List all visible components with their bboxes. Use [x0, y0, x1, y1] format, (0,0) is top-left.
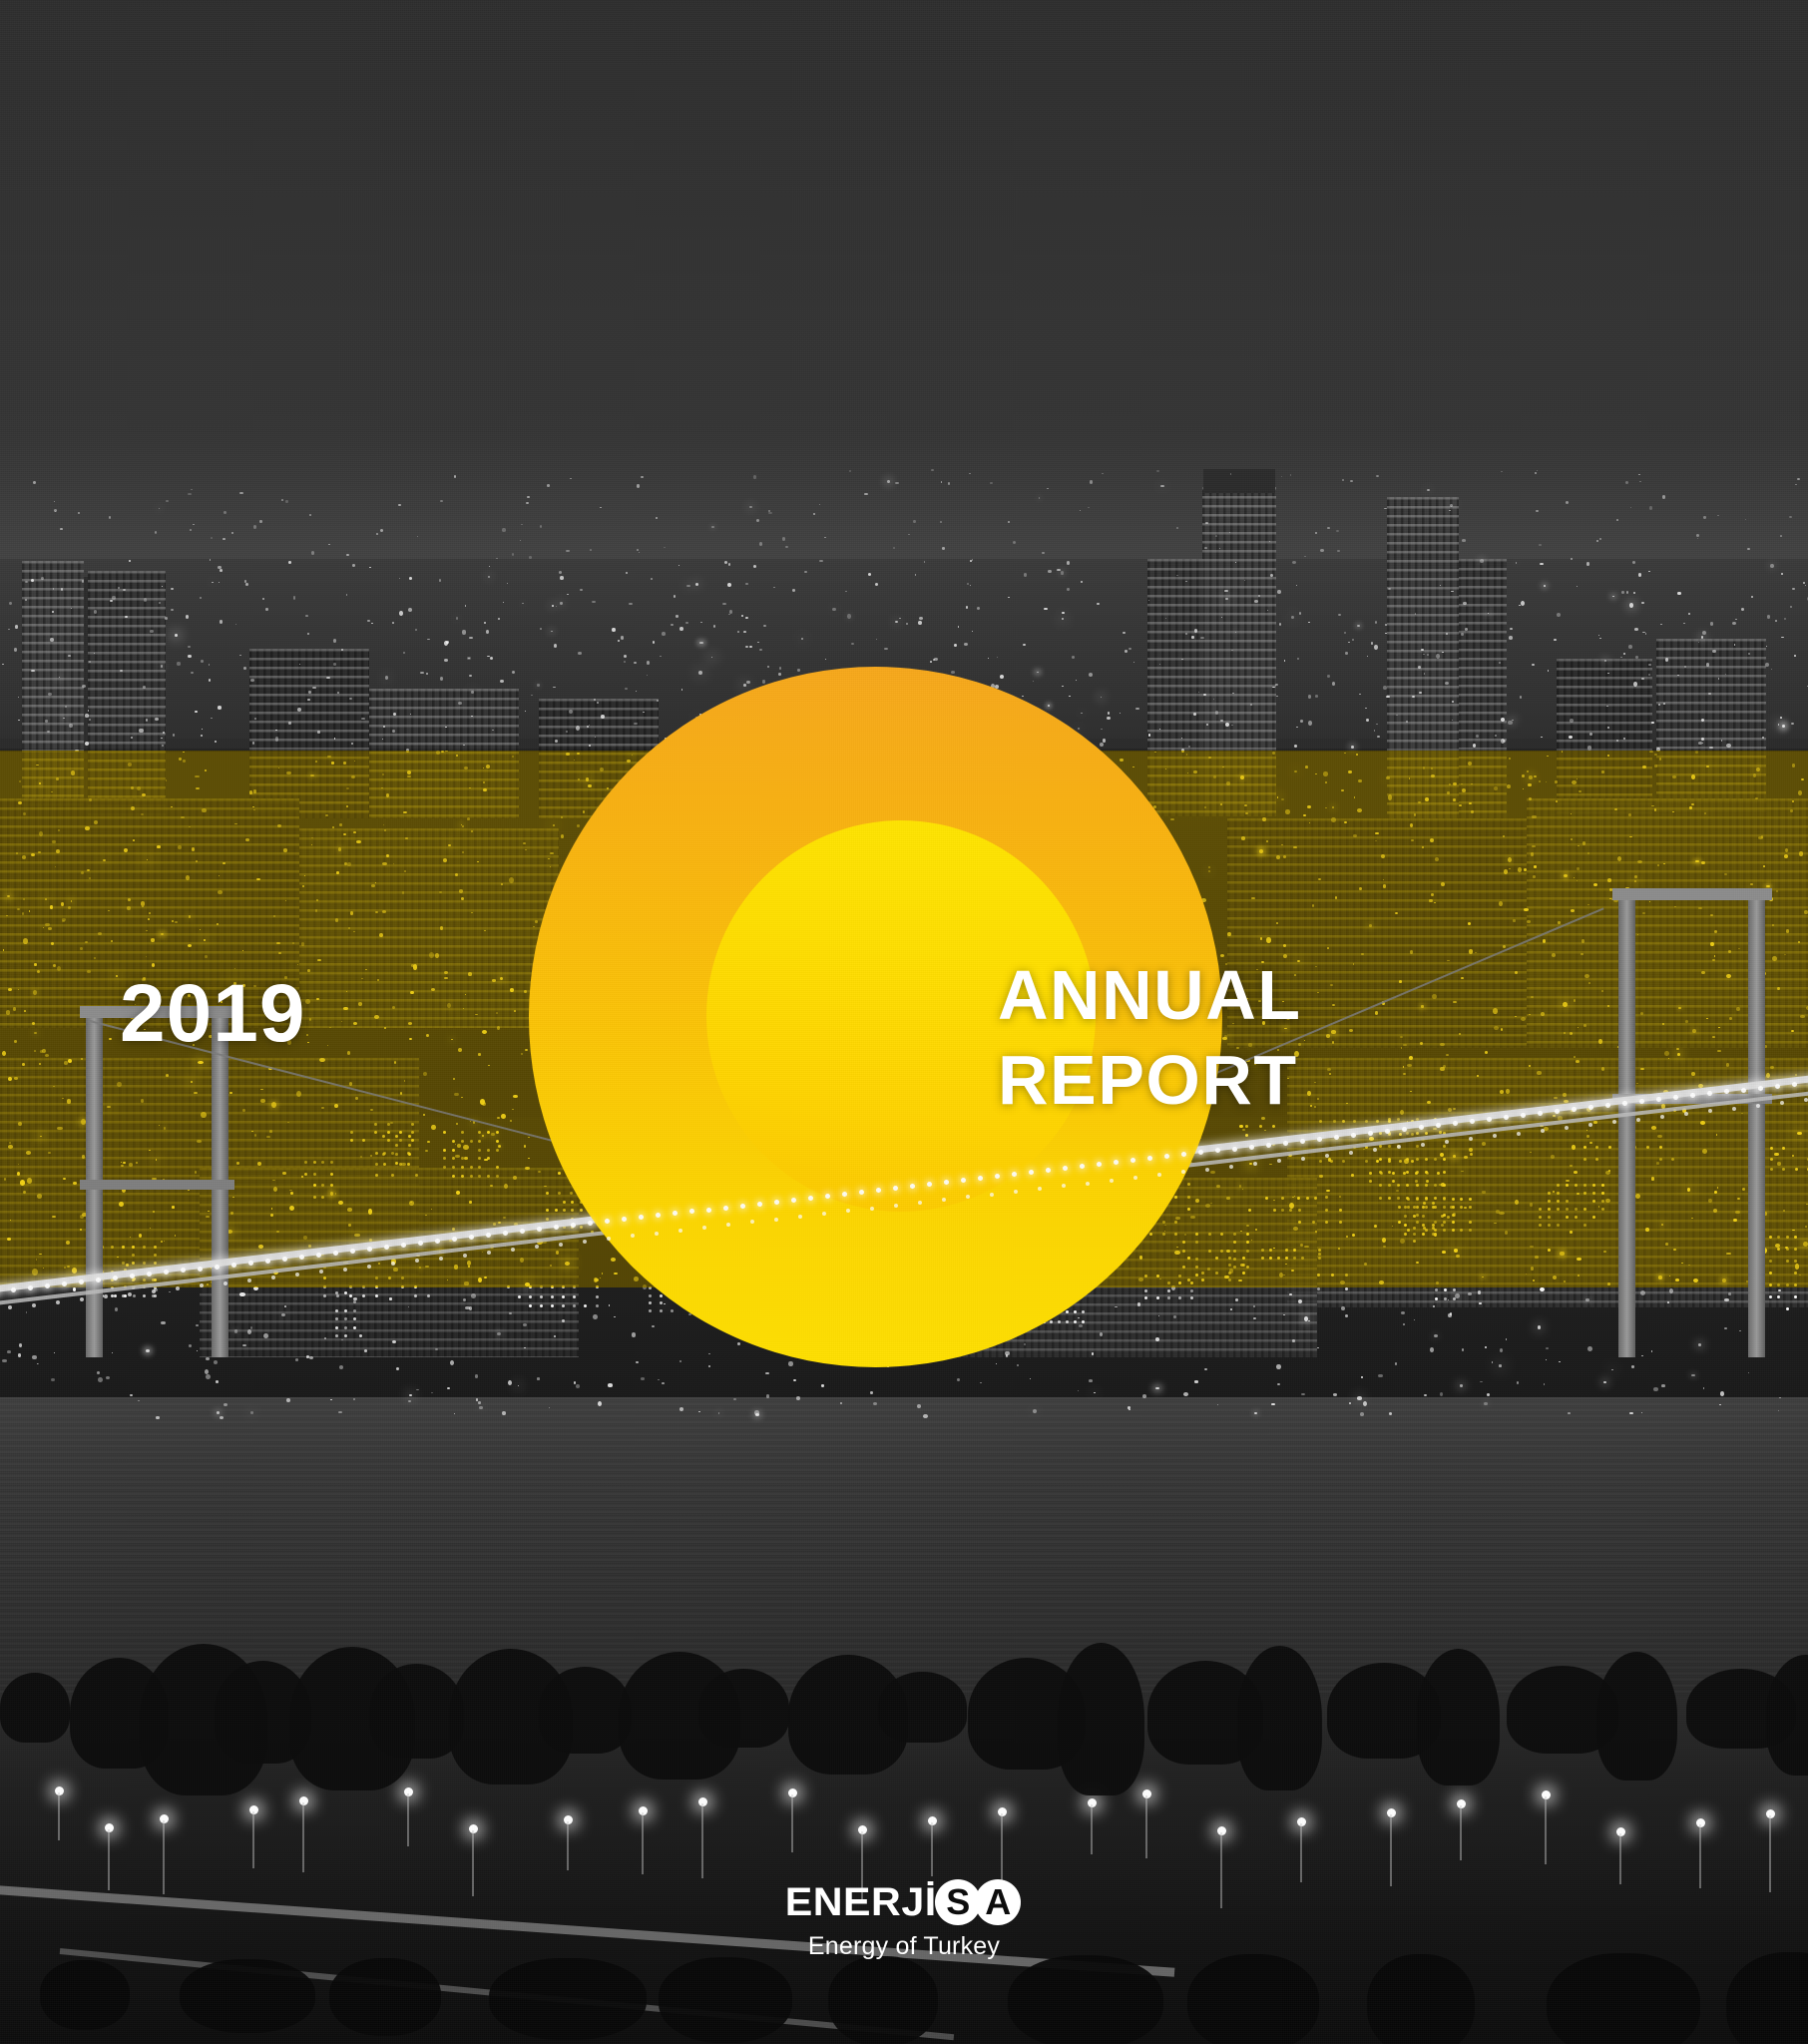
cover-year: 2019 [120, 973, 305, 1055]
brand-logo: ENERJİ S A Energy of Turkey [0, 1881, 1808, 1961]
cover-title-line1: ANNUAL [998, 956, 1302, 1034]
cover-title: ANNUAL REPORT [998, 953, 1302, 1124]
badge-letter-a: A [975, 1879, 1021, 1925]
brand-logo-wordmark-row: ENERJİ S A [787, 1881, 1022, 1923]
brand-wordmark: ENERJİ [785, 1882, 937, 1922]
annual-report-cover: 2019 ANNUAL REPORT ENERJİ S A Energy of … [0, 0, 1808, 2044]
cover-title-line2: REPORT [998, 1038, 1302, 1123]
brand-tagline: Energy of Turkey [808, 1932, 1000, 1961]
brand-sa-badge-icon: S A [935, 1879, 1021, 1925]
